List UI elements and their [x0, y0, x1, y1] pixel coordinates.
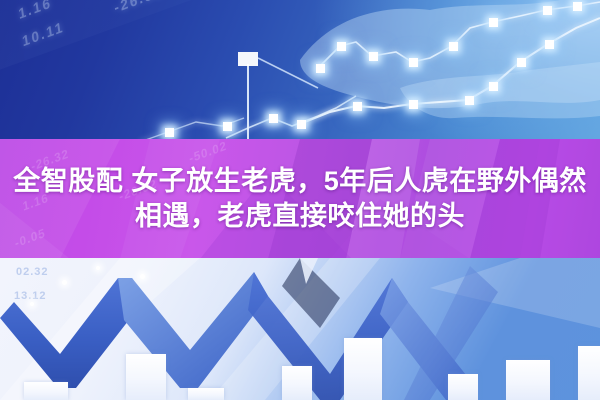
sparkle-decor — [30, 302, 34, 306]
sparkle-decor — [62, 280, 67, 285]
chart-node — [517, 58, 526, 67]
sparkle-decor — [96, 266, 100, 270]
chart-node — [489, 82, 498, 91]
chart-node — [449, 42, 458, 51]
bar-column — [126, 354, 166, 400]
chart-node — [337, 42, 346, 51]
chart-node — [369, 52, 378, 61]
bar-column — [506, 360, 550, 400]
chart-node — [409, 100, 418, 109]
bottom-ghost-number: 13.12 — [14, 290, 47, 302]
headline-text: 全智股配 女子放生老虎，5年后人虎在野外偶然 相遇，老虎直接咬住她的头 — [0, 139, 600, 259]
bar-column — [448, 374, 478, 400]
headline-line-2: 相遇，老虎直接咬住她的头 — [135, 202, 465, 231]
bar-column — [188, 388, 224, 400]
bar-column — [24, 382, 68, 400]
chart-node — [545, 40, 554, 49]
chart-node — [165, 128, 174, 137]
sparkle-decor — [140, 274, 145, 279]
bottom-ghost-number: 02.32 — [16, 266, 49, 278]
chart-node — [543, 6, 552, 15]
bar-column — [344, 338, 382, 400]
bar-column — [282, 366, 312, 400]
bar-column — [578, 346, 600, 400]
headline-line-1: 全智股配 女子放生老虎，5年后人虎在野外偶然 — [13, 167, 587, 196]
banner-image: -50.02 -02.36 -11.25 +5.02 21.02 -0.35 2… — [0, 0, 600, 400]
chart-node — [409, 58, 418, 67]
chart-node — [353, 102, 362, 111]
bottom-chart-panel: 02.32 13.12 — [0, 258, 600, 400]
chart-node — [489, 18, 498, 27]
pole-marker-icon — [200, 0, 320, 145]
chart-node — [465, 96, 474, 105]
top-blue-panel: -50.02 -02.36 -11.25 +5.02 21.02 -0.35 2… — [0, 0, 600, 145]
chart-node — [573, 2, 582, 11]
